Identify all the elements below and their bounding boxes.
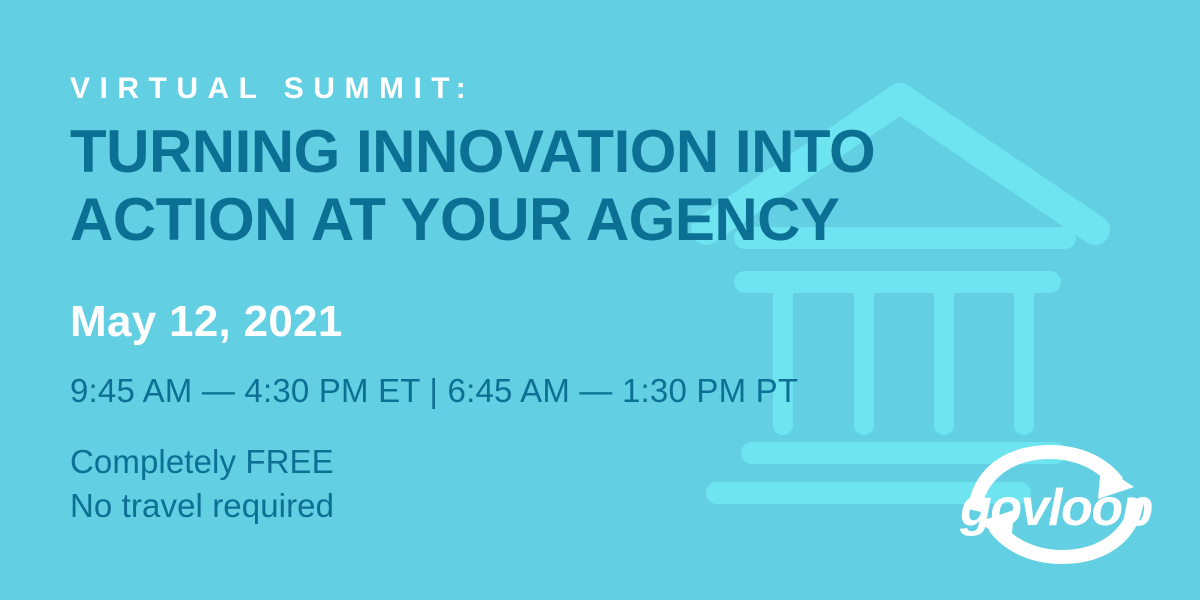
list-item: Completely FREE: [70, 440, 334, 484]
page-title: TURNING INNOVATION INTO ACTION AT YOUR A…: [70, 118, 875, 254]
event-date: May 12, 2021: [70, 300, 343, 344]
banner-text-block: VIRTUAL SUMMIT: TURNING INNOVATION INTO …: [70, 0, 970, 600]
event-perks-list: Completely FREE No travel required: [70, 440, 334, 528]
list-item: No travel required: [70, 484, 334, 528]
govloop-logo: govloop: [946, 437, 1166, 572]
headline-line-2: ACTION AT YOUR AGENCY: [70, 186, 875, 254]
eyebrow-label: VIRTUAL SUMMIT:: [70, 74, 475, 104]
headline-line-1: TURNING INNOVATION INTO: [70, 118, 875, 186]
event-time-range: 9:45 AM — 4:30 PM ET | 6:45 AM — 1:30 PM…: [70, 374, 798, 407]
logo-wordmark: govloop: [959, 479, 1152, 537]
virtual-summit-promo-banner: VIRTUAL SUMMIT: TURNING INNOVATION INTO …: [0, 0, 1200, 600]
